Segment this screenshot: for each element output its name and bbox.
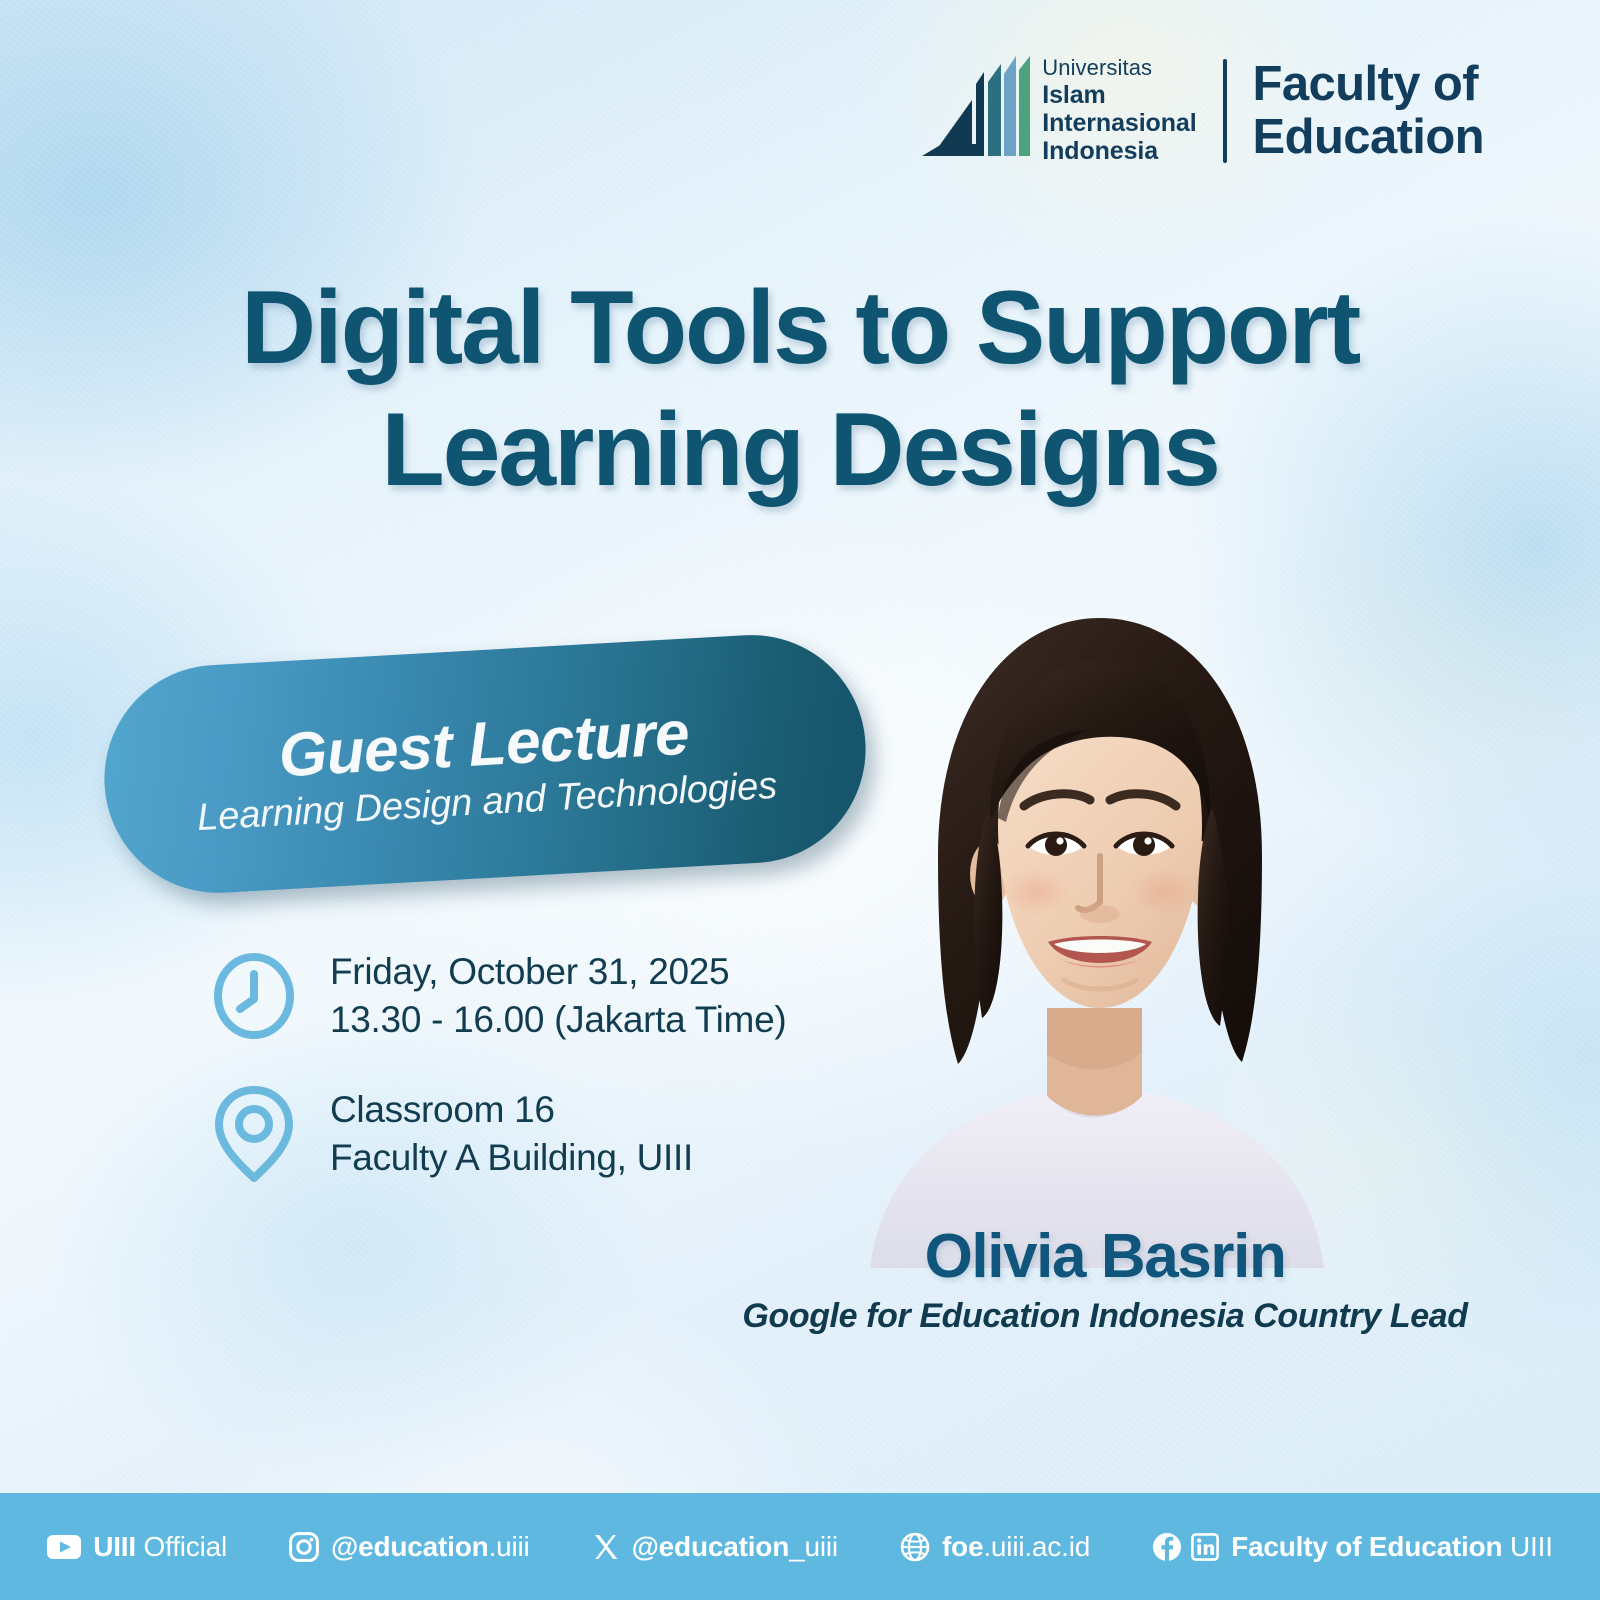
social-x-label: @education_uiii bbox=[632, 1531, 838, 1563]
clock-icon bbox=[208, 950, 300, 1042]
location-pin-icon bbox=[208, 1088, 300, 1180]
facebook-icon bbox=[1152, 1532, 1182, 1562]
social-website[interactable]: foe.uiii.ac.id bbox=[900, 1531, 1090, 1563]
instagram-icon bbox=[289, 1532, 319, 1562]
social-instagram-light: .uiii bbox=[489, 1531, 530, 1562]
logo-line-internasional: Internasional bbox=[1042, 109, 1196, 137]
header-logo-lockup: Universitas Islam Internasional Indonesi… bbox=[922, 56, 1484, 165]
detail-text-location: Classroom 16 Faculty A Building, UIII bbox=[330, 1086, 693, 1182]
logo-line-universitas: Universitas bbox=[1042, 56, 1196, 81]
guest-lecture-badge: Guest Lecture Learning Design and Techno… bbox=[98, 629, 872, 899]
social-youtube[interactable]: UIII Official bbox=[47, 1531, 227, 1563]
social-instagram-strong: @education bbox=[331, 1531, 489, 1562]
social-website-strong: foe bbox=[942, 1531, 983, 1562]
detail-datetime-line-1: Friday, October 31, 2025 bbox=[330, 948, 786, 996]
social-x-twitter[interactable]: @education_uiii bbox=[592, 1531, 838, 1563]
badge-text-group: Guest Lecture Learning Design and Techno… bbox=[98, 629, 872, 899]
social-x-strong: @education bbox=[632, 1531, 790, 1562]
social-website-label: foe.uiii.ac.id bbox=[942, 1531, 1090, 1563]
event-title-line-2: Learning Designs bbox=[0, 390, 1600, 512]
social-youtube-strong: UIII bbox=[93, 1531, 136, 1562]
logo-line-indonesia: Indonesia bbox=[1042, 137, 1196, 165]
social-fb-li-light: UIII bbox=[1502, 1531, 1552, 1562]
uiii-bars-logo-icon bbox=[922, 56, 1030, 165]
social-fb-li-strong: Faculty of Education bbox=[1231, 1531, 1502, 1562]
header-divider bbox=[1223, 59, 1227, 163]
detail-row-location: Classroom 16 Faculty A Building, UIII bbox=[208, 1086, 786, 1182]
event-title: Digital Tools to Support Learning Design… bbox=[0, 268, 1600, 511]
faculty-of-education-title: Faculty of Education bbox=[1253, 58, 1484, 164]
speaker-role: Google for Education Indonesia Country L… bbox=[690, 1297, 1520, 1336]
uiii-logo: Universitas Islam Internasional Indonesi… bbox=[922, 56, 1196, 165]
faculty-line-1: Faculty of bbox=[1253, 58, 1484, 111]
footer-social-bar: UIII Official @education.uiii bbox=[0, 1493, 1600, 1600]
speaker-portrait bbox=[812, 556, 1372, 1268]
detail-location-line-2: Faculty A Building, UIII bbox=[330, 1134, 693, 1182]
event-details: Friday, October 31, 2025 13.30 - 16.00 (… bbox=[208, 948, 786, 1182]
social-youtube-light: Official bbox=[136, 1531, 227, 1562]
speaker-info: Olivia Basrin Google for Education Indon… bbox=[690, 1224, 1520, 1336]
poster-canvas: Universitas Islam Internasional Indonesi… bbox=[0, 0, 1600, 1600]
detail-text-datetime: Friday, October 31, 2025 13.30 - 16.00 (… bbox=[330, 948, 786, 1044]
detail-row-datetime: Friday, October 31, 2025 13.30 - 16.00 (… bbox=[208, 948, 786, 1044]
speaker-name: Olivia Basrin bbox=[690, 1224, 1520, 1289]
social-website-light: .uiii.ac.id bbox=[983, 1531, 1090, 1562]
facebook-linkedin-icon bbox=[1152, 1532, 1219, 1562]
youtube-icon bbox=[47, 1535, 81, 1559]
logo-line-islam: Islam bbox=[1042, 81, 1196, 109]
globe-icon bbox=[900, 1532, 930, 1562]
social-instagram[interactable]: @education.uiii bbox=[289, 1531, 530, 1563]
social-facebook-linkedin-label: Faculty of Education UIII bbox=[1231, 1531, 1553, 1563]
social-x-light: _uiii bbox=[789, 1531, 838, 1562]
social-instagram-label: @education.uiii bbox=[331, 1531, 530, 1563]
social-youtube-label: UIII Official bbox=[93, 1531, 227, 1563]
x-twitter-icon bbox=[592, 1533, 620, 1561]
event-title-line-1: Digital Tools to Support bbox=[0, 268, 1600, 390]
faculty-line-2: Education bbox=[1253, 111, 1484, 164]
social-facebook-linkedin[interactable]: Faculty of Education UIII bbox=[1152, 1531, 1553, 1563]
uiii-wordmark: Universitas Islam Internasional Indonesi… bbox=[1042, 56, 1196, 165]
linkedin-icon bbox=[1191, 1533, 1219, 1561]
detail-datetime-line-2: 13.30 - 16.00 (Jakarta Time) bbox=[330, 996, 786, 1044]
detail-location-line-1: Classroom 16 bbox=[330, 1086, 693, 1134]
